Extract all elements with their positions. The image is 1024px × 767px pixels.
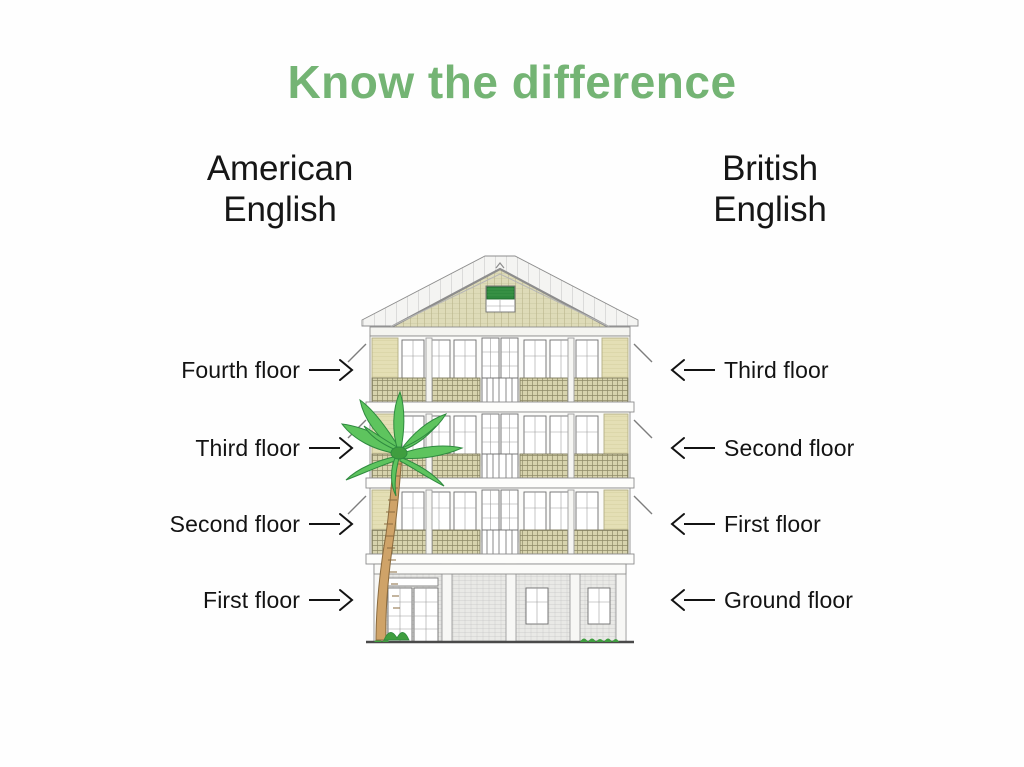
american-label-floor-4-text: Fourth floor — [181, 357, 300, 384]
house-illustration — [330, 248, 670, 653]
american-label-floor-4: Fourth floor — [181, 355, 355, 385]
house-elevation-svg — [330, 248, 670, 653]
heading-american-line2: English — [130, 189, 430, 230]
american-label-floor-3-text: Third floor — [195, 435, 300, 462]
arrow-left-icon — [669, 437, 715, 459]
british-label-floor-3: Third floor — [669, 355, 829, 385]
british-label-floor-2: Second floor — [669, 433, 854, 463]
heading-british-english: British English — [620, 148, 920, 231]
british-label-floor-1-text: First floor — [724, 511, 821, 538]
british-label-floor-2-text: Second floor — [724, 435, 854, 462]
page-title: Know the difference — [0, 55, 1024, 109]
floor-4 — [348, 336, 652, 412]
heading-american-line1: American — [130, 148, 430, 189]
slide-canvas: Know the difference American English Bri… — [0, 0, 1024, 767]
footer-spacer — [0, 660, 1024, 661]
american-label-floor-2: Second floor — [170, 509, 355, 539]
floor-1-ground — [374, 564, 626, 642]
british-label-floor-ground-text: Ground floor — [724, 587, 853, 614]
heading-american-english: American English — [130, 148, 430, 231]
arrow-left-icon — [669, 513, 715, 535]
british-label-floor-1: First floor — [669, 509, 821, 539]
attic-window — [486, 286, 515, 312]
british-label-floor-ground: Ground floor — [669, 585, 853, 615]
heading-british-line2: English — [620, 189, 920, 230]
heading-british-line1: British — [620, 148, 920, 189]
american-label-floor-1-text: First floor — [203, 587, 300, 614]
british-label-floor-3-text: Third floor — [724, 357, 829, 384]
arrow-left-icon — [669, 359, 715, 381]
american-label-floor-2-text: Second floor — [170, 511, 300, 538]
arrow-left-icon — [669, 589, 715, 611]
